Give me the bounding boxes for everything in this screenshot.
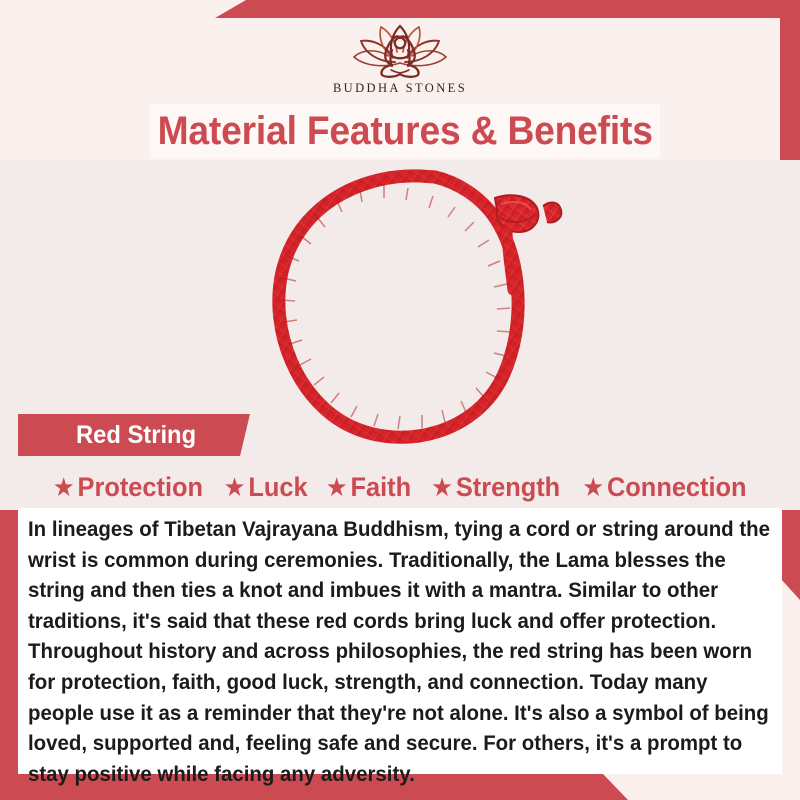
product-name: Red String [76,421,196,450]
star-icon: ★ [326,474,348,500]
description-block: In lineages of Tibetan Vajrayana Buddhis… [18,508,782,774]
lotus-meditating-figure-icon [334,18,466,80]
benefit-connection: ★ Connection [582,474,746,501]
description-text: In lineages of Tibetan Vajrayana Buddhis… [28,514,772,789]
brand-logo: BUDDHA STONES [0,18,800,100]
benefit-label: Faith [351,474,412,501]
star-icon: ★ [53,474,75,500]
benefit-label: Strength [456,474,560,501]
benefit-luck: ★ Luck [223,474,307,501]
benefits-row: ★ Protection ★ Luck ★ Faith ★ Strength ★… [18,466,782,508]
brand-name: BUDDHA STONES [333,81,467,96]
star-icon: ★ [223,474,245,500]
benefit-faith: ★ Faith [326,474,411,501]
product-name-ribbon: Red String [18,414,250,456]
title-banner: Material Features & Benefits [150,104,660,158]
infographic-page: BUDDHA STONES Material Features & Benefi… [0,0,800,800]
benefit-label: Connection [607,474,747,501]
benefit-strength: ★ Strength [431,474,560,501]
star-icon: ★ [582,474,604,500]
benefit-label: Protection [77,474,203,501]
benefit-protection: ★ Protection [53,474,203,501]
red-string-bracelet-illustration [245,160,585,460]
star-icon: ★ [431,474,453,500]
benefit-label: Luck [248,474,307,501]
page-title: Material Features & Benefits [157,109,652,154]
top-red-bar [0,0,800,18]
